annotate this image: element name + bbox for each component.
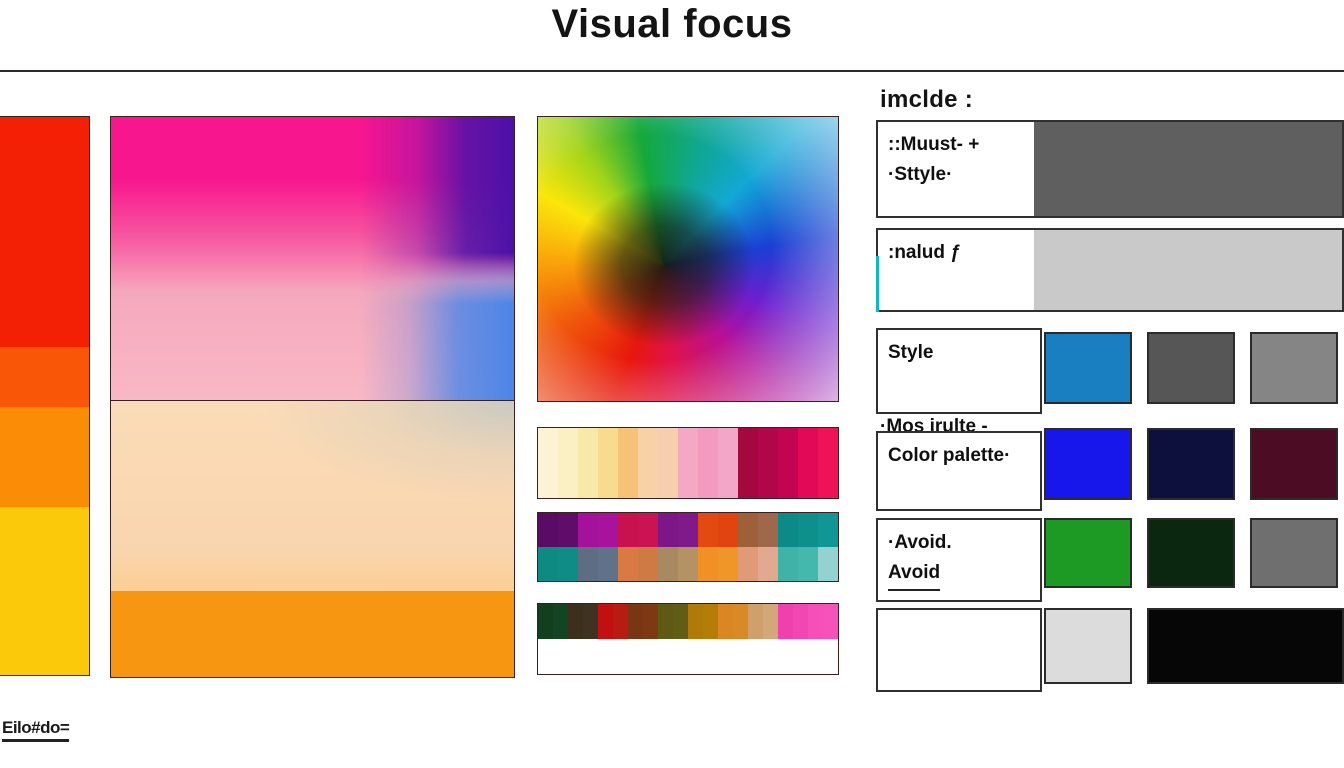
spec-label-avoid-dot: ·Avoid.: [888, 528, 1040, 558]
swatch-dark-grey[interactable]: [1147, 332, 1235, 404]
spec-label-cell: ::Muust- + ·Sttyle·: [878, 122, 1034, 216]
spec-label-avoid: Avoid: [888, 558, 940, 591]
strip-earth-two-row-row-0-cell-18: [808, 604, 823, 639]
strip-jewel-two-row-row-0-cell-3: [598, 513, 618, 547]
strip-jewel-two-row-row-0-cell-2: [578, 513, 598, 547]
spec-bar-light-grey: [1034, 230, 1342, 310]
ramp-band-1: [0, 347, 89, 407]
strip-warm-pastel-cell-8: [698, 428, 718, 498]
spec-label-cell: [878, 610, 1040, 690]
strip-warm-pastel-cell-4: [618, 428, 638, 498]
swatch-mid-grey[interactable]: [1250, 332, 1338, 404]
spec-label-cell: :nalud ƒ: [878, 230, 1034, 310]
strip-warm-pastel-cell-9: [718, 428, 738, 498]
strip-warm-pastel: [538, 428, 838, 498]
swatch-black-wide[interactable]: [1147, 608, 1344, 684]
strip-jewel-two-row-row-1-cell-8: [698, 547, 718, 581]
strip-warm-pastel-cell-1: [558, 428, 578, 498]
strip-warm-pastel: [537, 427, 839, 499]
pink-magenta-gradient-panel: [110, 116, 515, 401]
header-bar: Visual focus: [0, 0, 1344, 72]
strip-jewel-two-row-row-1-cell-0: [538, 547, 558, 581]
strip-earth-two-row-row-0-cell-1: [553, 604, 568, 639]
spec-label-must: ::Muust- +: [888, 130, 1034, 160]
strip-jewel-two-row-row-1-cell-5: [638, 547, 658, 581]
strip-jewel-two-row-row-0-cell-4: [618, 513, 638, 547]
strip-jewel-two-row-row-1-cell-3: [598, 547, 618, 581]
strip-warm-pastel-cell-6: [658, 428, 678, 498]
spec-label-cell: ·Avoid. Avoid: [878, 520, 1040, 600]
strip-earth-two-row-row-0-cell-9: [673, 604, 688, 639]
spec-label-cell: Style: [878, 330, 1040, 412]
strip-jewel-two-row-row-1-cell-12: [778, 547, 798, 581]
pixelated-colour-wheel: [537, 116, 839, 402]
strip-jewel-two-row-row-0: [538, 513, 838, 547]
strip-jewel-two-row-row-1-cell-6: [658, 547, 678, 581]
strip-warm-pastel-cell-2: [578, 428, 598, 498]
swatch-dark-green[interactable]: [1147, 518, 1235, 588]
strip-earth-two-row-row-0-cell-14: [748, 604, 763, 639]
spec-row-must[interactable]: ::Muust- + ·Sttyle·: [876, 120, 1344, 218]
strip-warm-pastel-cell-0: [538, 428, 558, 498]
strip-earth-two-row-row-0-cell-11: [703, 604, 718, 639]
strip-jewel-two-row-row-1-cell-1: [558, 547, 578, 581]
strip-jewel-two-row-row-1-cell-4: [618, 547, 638, 581]
strip-earth-two-row-row-0-cell-7: [643, 604, 658, 639]
strip-warm-pastel-cell-10: [738, 428, 758, 498]
strip-earth-two-row-row-0-cell-10: [688, 604, 703, 639]
strip-jewel-two-row-row-0-cell-0: [538, 513, 558, 547]
strip-earth-two-row-row-0-cell-12: [718, 604, 733, 639]
strip-jewel-two-row-row-1-cell-13: [798, 547, 818, 581]
ramp-band-2: [0, 407, 89, 507]
ramp-band-0: [0, 117, 89, 347]
strip-jewel-two-row-row-1-cell-7: [678, 547, 698, 581]
strip-earth-two-row-row-0-cell-2: [568, 604, 583, 639]
spec-label-include: :nalud ƒ: [888, 238, 1034, 268]
strip-jewel-two-row-row-0-cell-14: [818, 513, 838, 547]
swatch-light-grey[interactable]: [1044, 608, 1132, 684]
strip-warm-pastel-cell-13: [798, 428, 818, 498]
strip-earth-two-row-row-0-cell-13: [733, 604, 748, 639]
strip-jewel-two-row-row-1-cell-9: [718, 547, 738, 581]
strip-jewel-two-row-row-0-cell-11: [758, 513, 778, 547]
strip-earth-two-row: [538, 604, 838, 674]
strip-jewel-two-row-row-0-cell-8: [698, 513, 718, 547]
spec-row-avoid[interactable]: ·Avoid. Avoid: [876, 518, 1042, 602]
spec-bar-dark-grey: [1034, 122, 1342, 216]
orange-bottom-band: [111, 591, 514, 677]
strip-warm-pastel-cell-12: [778, 428, 798, 498]
swatch-blue-vivid[interactable]: [1044, 428, 1132, 500]
strip-warm-pastel-cell-11: [758, 428, 778, 498]
strip-earth-two-row-row-0-cell-15: [763, 604, 778, 639]
strip-jewel-two-row-row-1-cell-2: [578, 547, 598, 581]
page-title: Visual focus: [0, 2, 1344, 47]
strip-warm-pastel-cell-3: [598, 428, 618, 498]
strip-earth-two-row-row-0-cell-8: [658, 604, 673, 639]
strip-jewel-two-row-row-0-cell-1: [558, 513, 578, 547]
strip-earth-two-row-row-0-cell-19: [823, 604, 838, 639]
strip-warm-pastel-cell-7: [678, 428, 698, 498]
strip-earth-two-row-row-0-cell-0: [538, 604, 553, 639]
strip-jewel-two-row-row-0-cell-6: [658, 513, 678, 547]
spec-label-style: Style: [888, 338, 1040, 368]
strip-jewel-two-row-row-0-cell-5: [638, 513, 658, 547]
strip-earth-two-row-row-0: [538, 604, 838, 639]
strip-earth-two-row-row-0-cell-3: [583, 604, 598, 639]
spec-label-color-palette: Color palette·: [888, 441, 1040, 471]
swatch-green[interactable]: [1044, 518, 1132, 588]
strip-jewel-tone: [537, 512, 839, 582]
swatch-maroon[interactable]: [1250, 428, 1338, 500]
ramp-band-3: [0, 507, 89, 676]
spectrum-layer-wash: [538, 117, 838, 401]
strip-jewel-two-row-row-1-cell-11: [758, 547, 778, 581]
strip-earth-two-row-row-0-cell-16: [778, 604, 793, 639]
swatch-navy[interactable]: [1147, 428, 1235, 500]
strip-earth-two-row-row-0-cell-5: [613, 604, 628, 639]
spec-row-blank[interactable]: [876, 608, 1042, 692]
strip-earth-tone: [537, 603, 839, 675]
bottom-caption: Eilo#do=: [2, 718, 69, 742]
spec-row-color-palette[interactable]: Color palette·: [876, 431, 1042, 511]
gradient-layer-blue: [111, 117, 514, 400]
spec-row-include[interactable]: :nalud ƒ: [876, 228, 1344, 312]
strip-warm-pastel-cell-5: [638, 428, 658, 498]
panel-heading: imclde :: [880, 86, 973, 114]
strip-jewel-two-row-row-0-cell-10: [738, 513, 758, 547]
swatch-blue[interactable]: [1044, 332, 1132, 404]
swatch-grey[interactable]: [1250, 518, 1338, 588]
strip-earth-two-row-row-0-cell-6: [628, 604, 643, 639]
strip-earth-two-row-row-0-cell-4: [598, 604, 613, 639]
strip-jewel-two-row-row-0-cell-7: [678, 513, 698, 547]
strip-jewel-two-row-row-0-cell-12: [778, 513, 798, 547]
strip-jewel-two-row-row-1: [538, 547, 838, 581]
spec-label-cell: Color palette·: [878, 433, 1040, 509]
strip-earth-two-row-row-0-cell-17: [793, 604, 808, 639]
strip-jewel-two-row-row-0-cell-9: [718, 513, 738, 547]
strip-jewel-two-row-row-1-cell-10: [738, 547, 758, 581]
spec-row-style[interactable]: Style: [876, 328, 1042, 414]
spec-label-style-sub: ·Sttyle·: [888, 160, 1034, 190]
strip-jewel-two-row-row-1-cell-14: [818, 547, 838, 581]
strip-warm-pastel-cell-14: [818, 428, 838, 498]
strip-jewel-two-row-row-0-cell-13: [798, 513, 818, 547]
peach-orange-gradient-panel: [110, 400, 515, 678]
warm-vertical-ramp: [0, 116, 90, 676]
strip-jewel-two-row: [538, 513, 838, 581]
